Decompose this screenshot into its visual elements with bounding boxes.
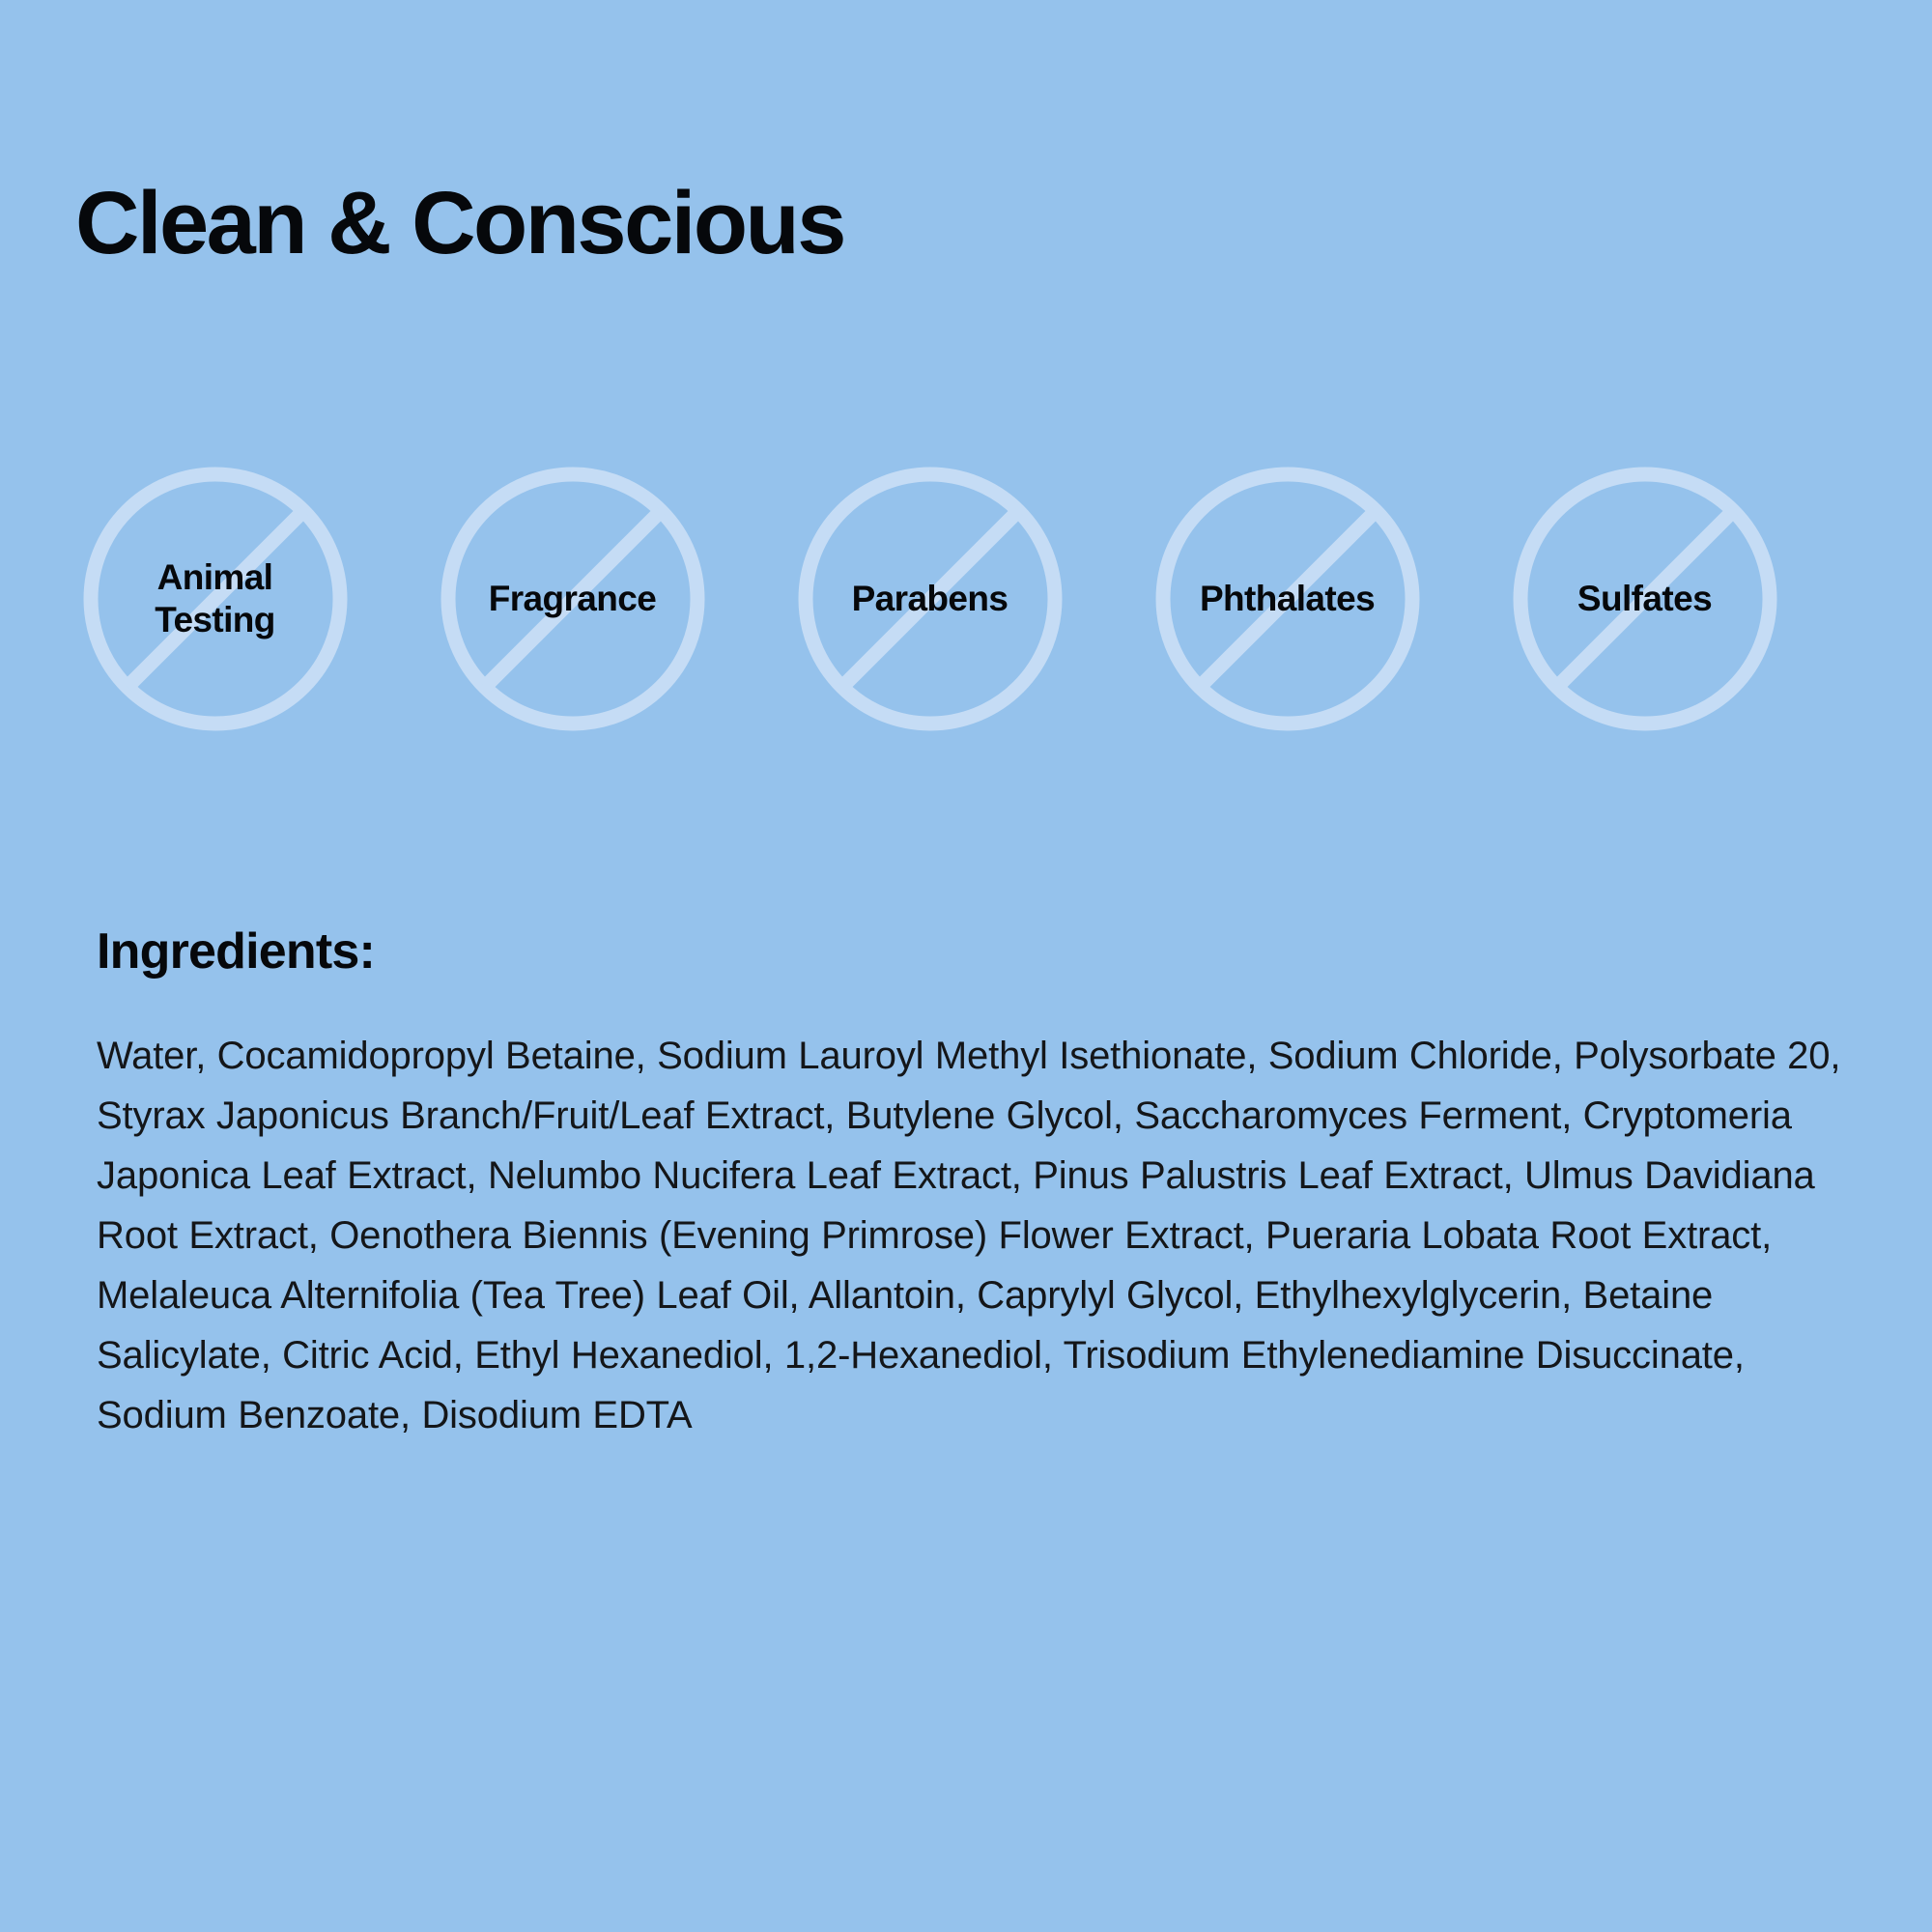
free-from-badge-label: Phthalates (1200, 578, 1375, 620)
free-from-badge-label: Parabens (852, 578, 1009, 620)
free-from-badge-label: Animal Testing (155, 556, 275, 640)
free-from-badge: Sulfates (1507, 459, 1782, 739)
free-from-badge: Phthalates (1150, 459, 1425, 739)
page-title: Clean & Conscious (75, 179, 844, 268)
ingredients-heading: Ingredients: (97, 923, 375, 980)
free-from-badge-row: Animal Testing Fragrance Parabens (77, 454, 1855, 744)
ingredients-list: Water, Cocamidopropyl Betaine, Sodium La… (97, 1026, 1847, 1445)
free-from-badge: Parabens (792, 459, 1067, 739)
free-from-badge-label: Sulfates (1577, 578, 1712, 620)
free-from-badge: Animal Testing (77, 459, 353, 739)
free-from-badge: Fragrance (435, 459, 710, 739)
product-clean-conscious-panel: Clean & Conscious Animal Testing Fragran… (0, 0, 1932, 1932)
free-from-badge-label: Fragrance (489, 578, 657, 620)
